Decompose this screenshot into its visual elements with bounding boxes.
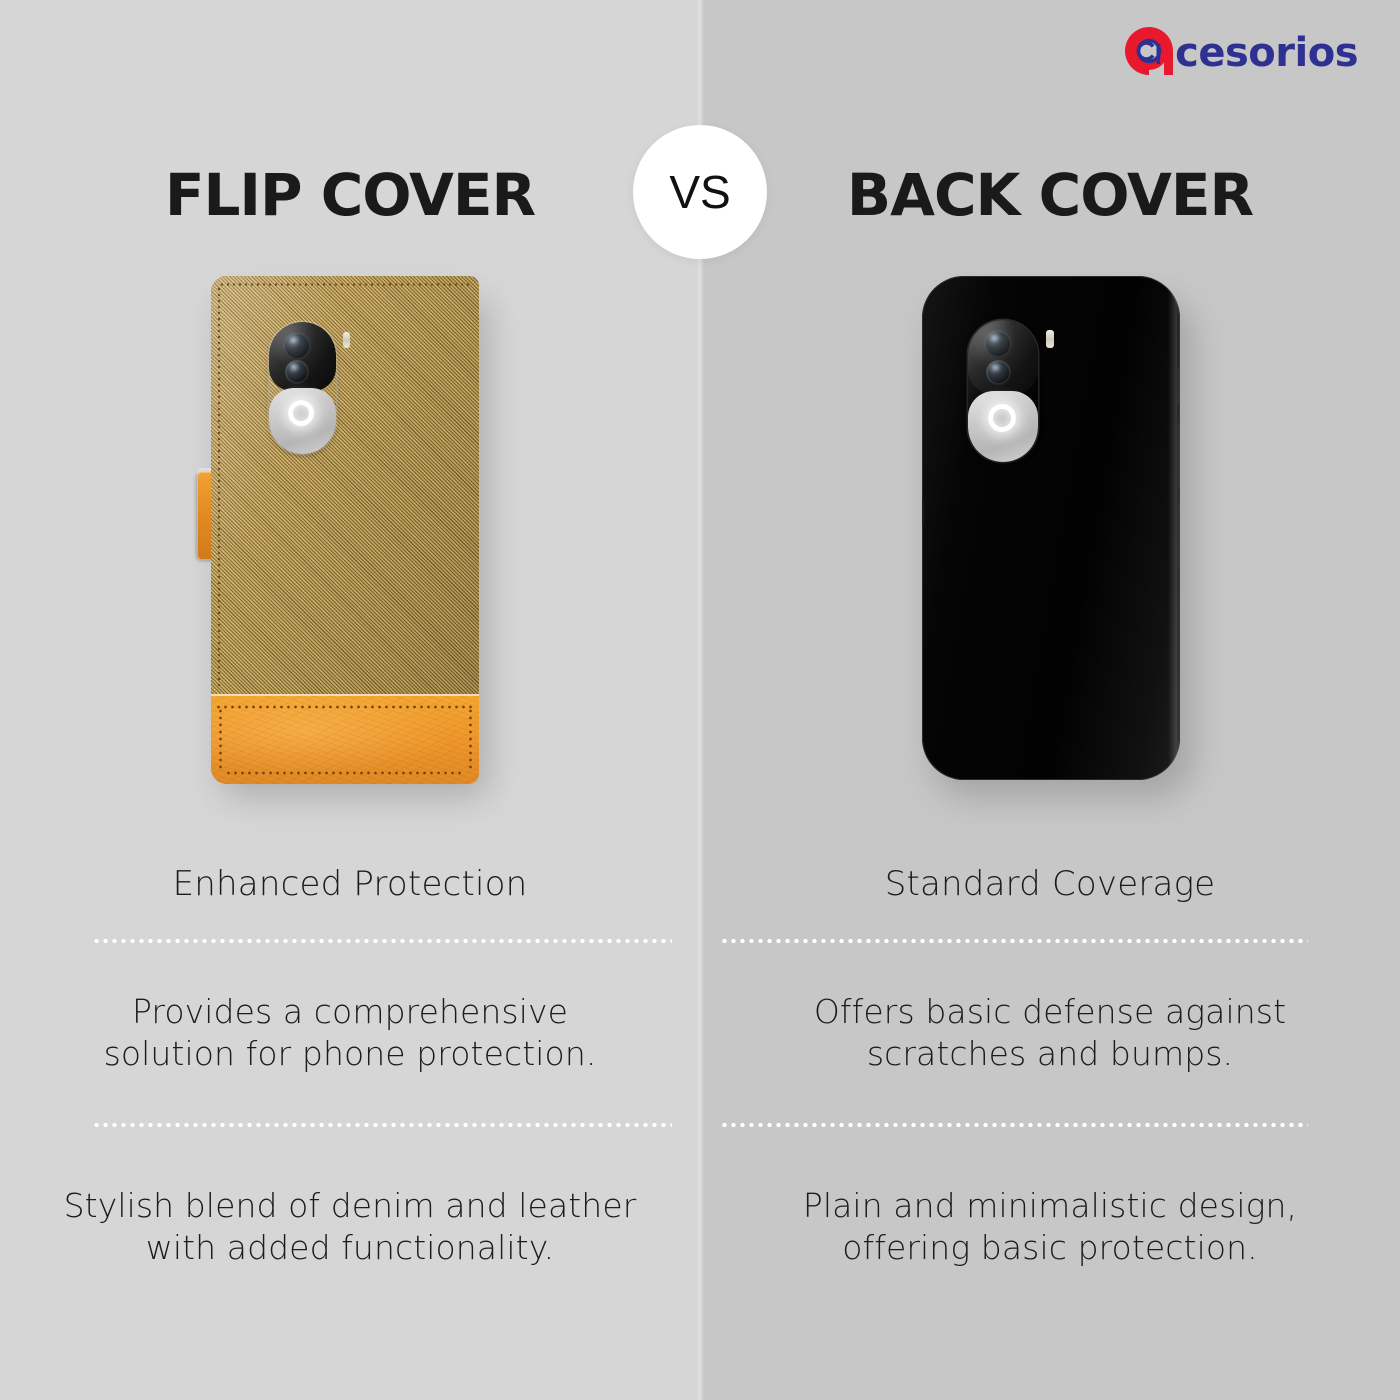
flip-cover-camera-module bbox=[269, 322, 336, 454]
back-cover-camera-module bbox=[968, 320, 1038, 462]
back-cover-product-image bbox=[922, 276, 1202, 786]
right-feature-1: Offers basic defense against scratches a… bbox=[700, 952, 1400, 1114]
side-button-top bbox=[1178, 368, 1180, 404]
camera-flash bbox=[343, 332, 350, 348]
left-column-title: FLIP COVER bbox=[20, 140, 680, 250]
right-column-title: BACK COVER bbox=[720, 140, 1380, 250]
infographic-canvas: cesorios FLIP COVER BACK COVER VS bbox=[0, 0, 1400, 1400]
side-button-left bbox=[922, 498, 924, 526]
left-feature-1: Provides a comprehensive solution for ph… bbox=[0, 952, 700, 1114]
flip-cover-body bbox=[211, 276, 479, 784]
product-image-area bbox=[0, 262, 1400, 822]
left-feature-2: Stylish blend of denim and leather with … bbox=[0, 1136, 700, 1318]
right-subtitle: Standard Coverage bbox=[700, 838, 1400, 930]
camera-glass-reflection bbox=[269, 322, 336, 454]
subtitle-row: Enhanced Protection Standard Coverage bbox=[0, 838, 1400, 930]
dotted-line-left bbox=[92, 1123, 672, 1127]
dotted-divider-1 bbox=[0, 930, 1400, 952]
back-cover-body bbox=[922, 276, 1180, 780]
acesorios-circle-a-icon bbox=[1122, 24, 1176, 78]
flip-cover-product-image bbox=[211, 276, 491, 786]
comparison-table: Enhanced Protection Standard Coverage Pr… bbox=[0, 838, 1400, 1318]
brand-name-text: cesorios bbox=[1175, 33, 1358, 73]
feature-row-1: Provides a comprehensive solution for ph… bbox=[0, 952, 1400, 1114]
camera-flash bbox=[1046, 330, 1054, 348]
brand-logo[interactable]: cesorios bbox=[1122, 26, 1358, 76]
camera-glass-reflection bbox=[968, 320, 1038, 462]
leather-panel bbox=[211, 696, 479, 784]
side-button-volume-down bbox=[1178, 502, 1180, 568]
dotted-line-right bbox=[720, 1123, 1308, 1127]
feature-row-2: Stylish blend of denim and leather with … bbox=[0, 1136, 1400, 1318]
right-feature-2: Plain and minimalistic design, offering … bbox=[700, 1136, 1400, 1318]
dotted-line-right bbox=[720, 939, 1308, 943]
leather-grain-texture bbox=[211, 696, 479, 784]
side-button-volume-up bbox=[1178, 422, 1180, 488]
dotted-line-left bbox=[92, 939, 672, 943]
vs-badge: VS bbox=[633, 125, 767, 259]
left-subtitle: Enhanced Protection bbox=[0, 838, 700, 930]
dotted-divider-2 bbox=[0, 1114, 1400, 1136]
